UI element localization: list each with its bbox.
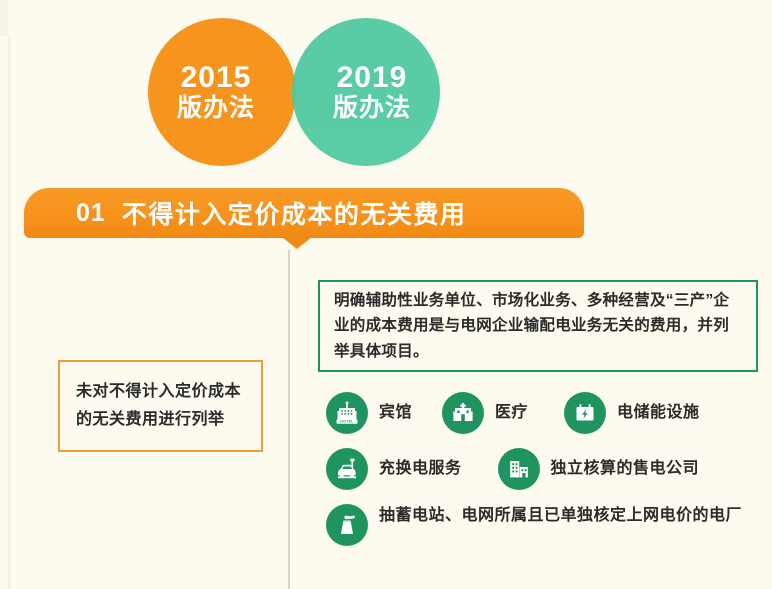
svg-text:HOTEL: HOTEL (340, 420, 354, 424)
icon-row: 充换电服务 (326, 448, 766, 490)
hotel-icon: HOTEL (326, 392, 368, 434)
battery-storage-icon (564, 392, 606, 434)
list-item: 充换电服务 (326, 448, 462, 490)
banner-notch-arrow (282, 237, 312, 249)
list-item: 医疗 (442, 392, 528, 434)
section-title: 不得计入定价成本的无关费用 (122, 195, 467, 231)
venn-2015-subtitle: 版办法 (177, 95, 255, 123)
hospital-icon (442, 392, 484, 434)
venn-2019-year: 2019 (337, 62, 408, 94)
list-item: 独立核算的售电公司 (498, 448, 700, 490)
infographic-page: 2015 版办法 2019 版办法 01 不得计入定价成本的无关费用 未对不得计… (0, 0, 772, 589)
section-banner-bar: 01 不得计入定价成本的无关费用 (24, 188, 584, 238)
list-item: HOTEL 宾馆 (326, 392, 412, 434)
icon-list: HOTEL 宾馆 (326, 392, 766, 560)
venn-2019-subtitle: 版办法 (333, 95, 411, 123)
venn-diagram: 2015 版办法 2019 版办法 (148, 18, 440, 166)
list-item-label: 电储能设施 (617, 401, 700, 424)
office-buildings-icon (498, 448, 540, 490)
list-item-label: 抽蓄电站、电网所属且已单独核定上网电价的电厂 (379, 504, 742, 527)
column-divider (288, 250, 290, 589)
list-item-label: 宾馆 (379, 401, 412, 424)
ev-charging-icon (326, 448, 368, 490)
right-column-box: 明确辅助性业务单位、市场化业务、多种经营及“三产”企业的成本费用是与电网企业输配… (318, 280, 758, 372)
page-edge-strip-top (0, 0, 8, 36)
list-item-label: 充换电服务 (379, 457, 462, 480)
left-column-box: 未对不得计入定价成本的无关费用进行列举 (58, 360, 263, 452)
page-edge-strip-left (8, 36, 11, 589)
section-number: 01 (76, 199, 106, 228)
list-item-label: 独立核算的售电公司 (551, 457, 700, 480)
venn-circle-2019: 2019 版办法 (292, 18, 440, 166)
icon-row: HOTEL 宾馆 (326, 392, 766, 434)
left-column-text: 未对不得计入定价成本的无关费用进行列举 (76, 378, 245, 434)
list-item: 电储能设施 (564, 392, 700, 434)
power-plant-icon (326, 504, 368, 546)
venn-2015-year: 2015 (181, 62, 252, 94)
list-item-label: 医疗 (495, 401, 528, 424)
icon-row: 抽蓄电站、电网所属且已单独核定上网电价的电厂 (326, 504, 766, 546)
section-banner: 01 不得计入定价成本的无关费用 (24, 188, 584, 238)
right-column-text: 明确辅助性业务单位、市场化业务、多种经营及“三产”企业的成本费用是与电网企业输配… (334, 288, 742, 365)
list-item: 抽蓄电站、电网所属且已单独核定上网电价的电厂 (326, 504, 766, 546)
venn-circle-2015: 2015 版办法 (148, 18, 296, 166)
